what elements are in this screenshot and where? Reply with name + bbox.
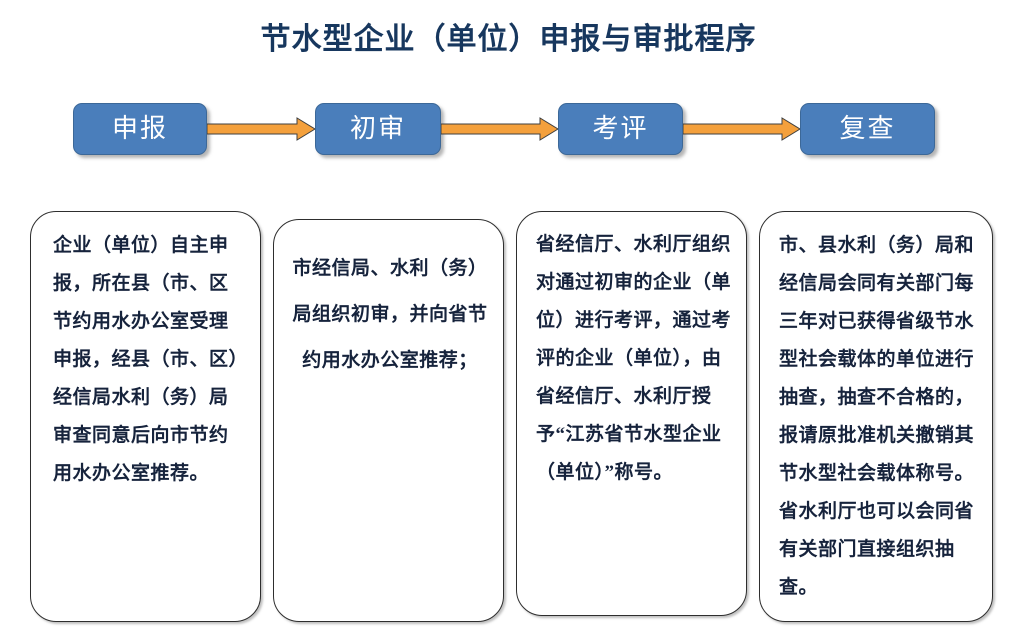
stage-label: 初审 (350, 116, 406, 142)
stage-label: 考评 (592, 116, 648, 142)
process-flow-row: 申报 初审 考评 复查 (0, 103, 1017, 161)
detail-box-assessment: 省经信厅、水利厅组织对通过初审的企业（单位）进行考评，通过考评的企业（单位），由… (516, 211, 747, 616)
detail-text: 企业（单位）自主申报，所在县（市、区节约用水办公室受理申报，经县（市、区）经信局… (53, 227, 243, 493)
right-arrow-icon (441, 117, 559, 141)
stage-box-preliminary-review[interactable]: 初审 (315, 103, 441, 155)
stage-label: 申报 (112, 116, 168, 142)
detail-text: 省经信厅、水利厅组织对通过初审的企业（单位）进行考评，通过考评的企业（单位），由… (536, 226, 731, 492)
right-arrow-icon (683, 117, 801, 141)
right-arrow-icon (207, 117, 316, 141)
stage-box-apply[interactable]: 申报 (73, 103, 207, 155)
stage-label: 复查 (839, 116, 895, 142)
stage-box-assessment[interactable]: 考评 (558, 103, 683, 155)
detail-box-recheck: 市、县水利（务）局和经信局会同有关部门每三年对已获得省级节水型社会载体的单位进行… (759, 211, 993, 622)
detail-text: 市经信局、水利（务）局组织初审，并向省节约用水办公室推荐； (288, 246, 492, 384)
page-title: 节水型企业（单位）申报与审批程序 (0, 14, 1017, 58)
detail-box-apply: 企业（单位）自主申报，所在县（市、区节约用水办公室受理申报，经县（市、区）经信局… (30, 211, 261, 622)
detail-box-preliminary-review: 市经信局、水利（务）局组织初审，并向省节约用水办公室推荐； (273, 219, 504, 622)
detail-text: 市、县水利（务）局和经信局会同有关部门每三年对已获得省级节水型社会载体的单位进行… (779, 227, 977, 607)
stage-box-recheck[interactable]: 复查 (800, 103, 935, 155)
